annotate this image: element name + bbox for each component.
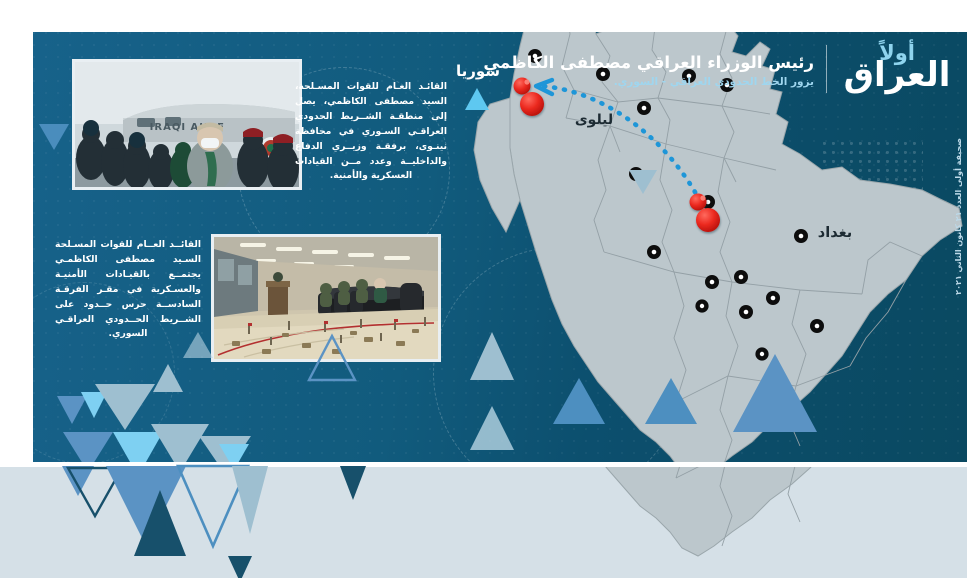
page-title: رئيس الوزراء العراقي مصطفى الكاظمي: [483, 53, 814, 72]
brand-logo-bottom: العراق: [844, 60, 951, 91]
header-divider: [826, 45, 827, 93]
panel-band-gap: [0, 462, 967, 467]
svg-text:بغداد: بغداد: [818, 225, 852, 241]
edition-date-vertical: صحيفة أولى العدد ٢١ كانون الثاني ٢٠٢١: [954, 138, 963, 295]
photo-briefing-image: [214, 237, 438, 359]
page-subtitle: يزور الخط الحدودي العراقي - السوري.: [483, 76, 814, 88]
infographic-canvas: سوريا ليلوى بغداد: [0, 0, 967, 578]
header: أولاً العراق رئيس الوزراء العراقي مصطفى …: [483, 40, 955, 98]
caption-arrival: القائـد العـام للقوات المسـلحة، السيد مص…: [295, 80, 447, 184]
photo-arrival: IRAQI AIR F: [72, 59, 302, 190]
header-text-group: رئيس الوزراء العراقي مصطفى الكاظمي يزور …: [483, 49, 814, 88]
main-panel: ليلوى بغداد سوريا أولاً العراق رئيس الوز…: [33, 32, 967, 462]
photo-briefing: [211, 234, 441, 362]
svg-text:ليلوى: ليلوى: [575, 112, 613, 128]
brand-logo[interactable]: أولاً العراق: [839, 40, 955, 98]
photo-arrival-image: IRAQI AIR F: [75, 62, 299, 187]
caption-briefing: القائــد العــام للقوات المسـلحة السـيد …: [55, 238, 201, 342]
